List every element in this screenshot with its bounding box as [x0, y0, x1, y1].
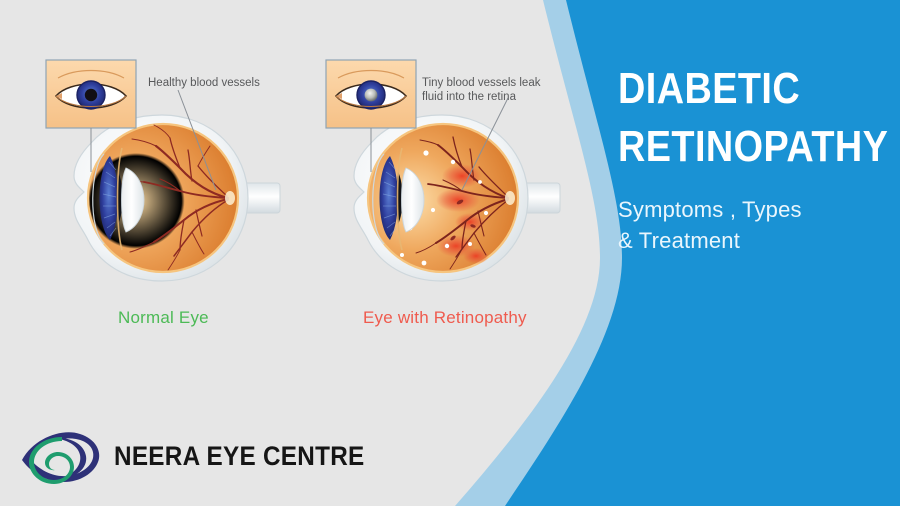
- subtitle-line-2: & Treatment: [618, 225, 890, 256]
- headline-block: DIABETIC RETINOPATHY Symptoms , Types & …: [618, 60, 890, 256]
- caption-normal-eye: Normal Eye: [118, 308, 209, 328]
- title-line-2: RETINOPATHY: [618, 118, 852, 176]
- external-eye-inset: [46, 60, 136, 128]
- callout-healthy-vessels: Healthy blood vessels: [148, 76, 260, 90]
- subtitle: Symptoms , Types & Treatment: [618, 194, 890, 256]
- title-line-1: DIABETIC: [618, 60, 852, 118]
- infographic-poster: Healthy blood vessels Normal Eye: [0, 0, 900, 506]
- pupil-normal: [85, 89, 97, 101]
- external-eye-inset: [326, 60, 416, 128]
- pupil-clouded: [365, 89, 378, 102]
- brand-logo: NEERA EYE CENTRE: [18, 424, 392, 488]
- subtitle-line-1: Symptoms , Types: [618, 194, 890, 225]
- callout-leaking-vessels: Tiny blood vessels leak fluid into the r…: [422, 76, 540, 104]
- brand-name: NEERA EYE CENTRE: [114, 441, 365, 472]
- caption-retinopathy-eye: Eye with Retinopathy: [363, 308, 527, 328]
- eye-swirl-logo-icon: [18, 424, 104, 488]
